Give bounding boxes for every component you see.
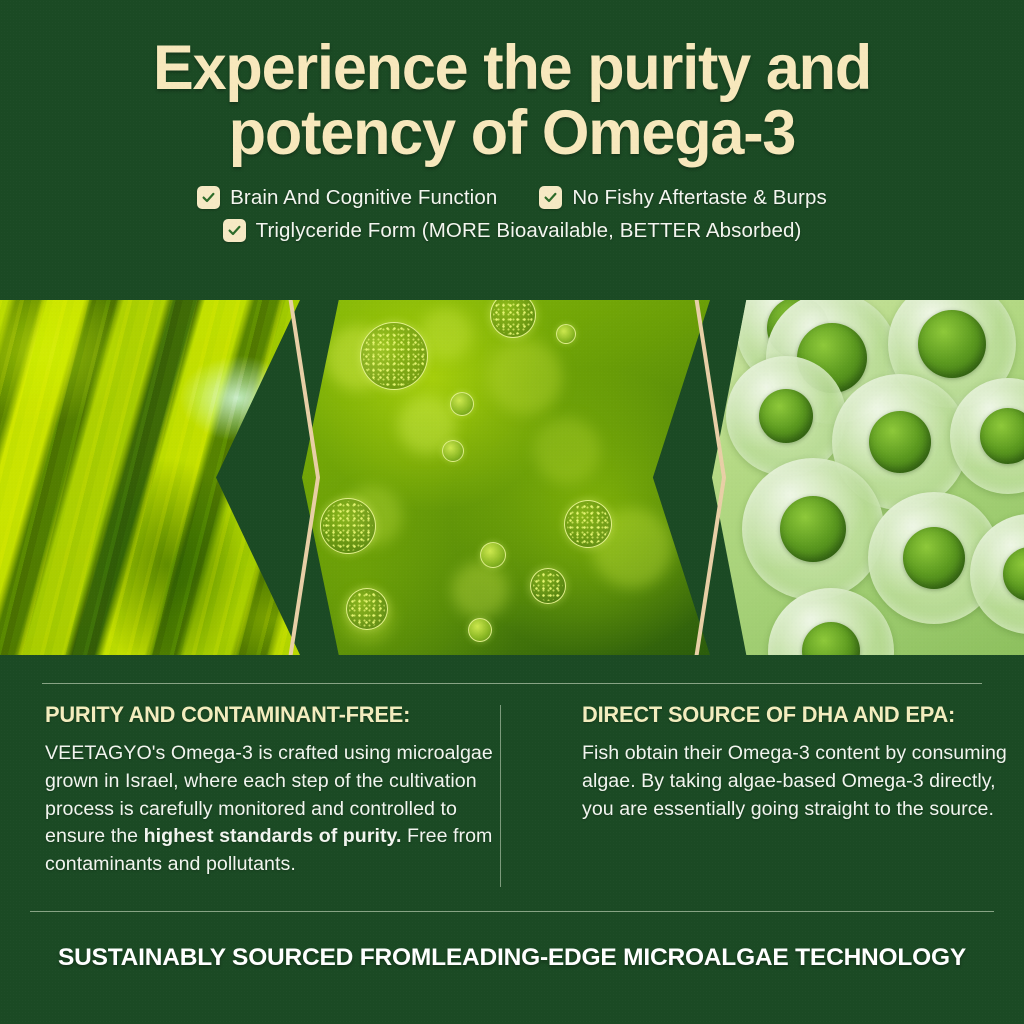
algae-cell	[468, 618, 492, 642]
body-text-before: Fish obtain their Omega-3 content by con…	[582, 742, 1007, 820]
algae-cell	[556, 324, 576, 344]
algae-bioreactor-photo	[712, 300, 1024, 655]
algae-cell	[360, 322, 428, 390]
divider-top	[42, 683, 982, 684]
check-icon	[223, 219, 246, 242]
image-strip	[0, 300, 1024, 655]
feature-item-brain-cognitive: Brain And Cognitive Function	[197, 186, 497, 210]
check-icon	[197, 186, 220, 209]
feature-row-2: Triglyceride Form (MORE Bioavailable, BE…	[0, 219, 1024, 243]
algae-cell	[346, 588, 388, 630]
column-body: VEETAGYO's Omega-3 is crafted using micr…	[45, 740, 500, 879]
header: Experience the purity and potency of Ome…	[0, 0, 1024, 243]
chevron-accent-icon	[690, 300, 730, 655]
title-line-2: potency of Omega-3	[15, 101, 1008, 166]
feature-item-triglyceride-form: Triglyceride Form (MORE Bioavailable, BE…	[223, 219, 802, 243]
chevron-accent-icon	[284, 300, 324, 655]
body-text-emphasis: highest standards of purity.	[144, 825, 402, 847]
algae-cell	[530, 568, 566, 604]
kelp-seaweed-photo	[0, 300, 300, 655]
feature-label: Triglyceride Form (MORE Bioavailable, BE…	[256, 219, 802, 243]
page-title: Experience the purity and potency of Ome…	[15, 36, 1008, 166]
feature-list: Brain And Cognitive Function No Fishy Af…	[0, 186, 1024, 243]
feature-label: Brain And Cognitive Function	[230, 186, 497, 210]
algae-cell	[320, 498, 376, 554]
feature-row-1: Brain And Cognitive Function No Fishy Af…	[0, 186, 1024, 210]
infographic-page: Experience the purity and potency of Ome…	[0, 0, 1024, 1024]
algae-cell	[450, 392, 474, 416]
check-icon	[539, 186, 562, 209]
algae-cell	[564, 500, 612, 548]
divider-bottom	[30, 911, 994, 912]
column-heading: DIRECT SOURCE OF DHA AND EPA:	[582, 702, 1009, 728]
footer-banner: SUSTAINABLY SOURCED FROMLEADING-EDGE MIC…	[0, 944, 1024, 972]
feature-label: No Fishy Aftertaste & Burps	[572, 186, 827, 210]
column-heading: PURITY AND CONTAMINANT-FREE:	[45, 702, 486, 728]
column-purity: PURITY AND CONTAMINANT-FREE: VEETAGYO's …	[45, 702, 500, 879]
feature-item-no-fishy-aftertaste: No Fishy Aftertaste & Burps	[539, 186, 827, 210]
title-line-1: Experience the purity and	[153, 33, 871, 103]
kelp-texture	[0, 300, 300, 655]
microalgae-cells-photo	[302, 300, 710, 655]
content-columns: PURITY AND CONTAMINANT-FREE: VEETAGYO's …	[0, 702, 1024, 879]
algae-cell	[442, 440, 464, 462]
algae-cell	[480, 542, 506, 568]
column-dha-epa: DIRECT SOURCE OF DHA AND EPA: Fish obtai…	[582, 702, 1022, 879]
column-body: Fish obtain their Omega-3 content by con…	[582, 740, 1022, 823]
